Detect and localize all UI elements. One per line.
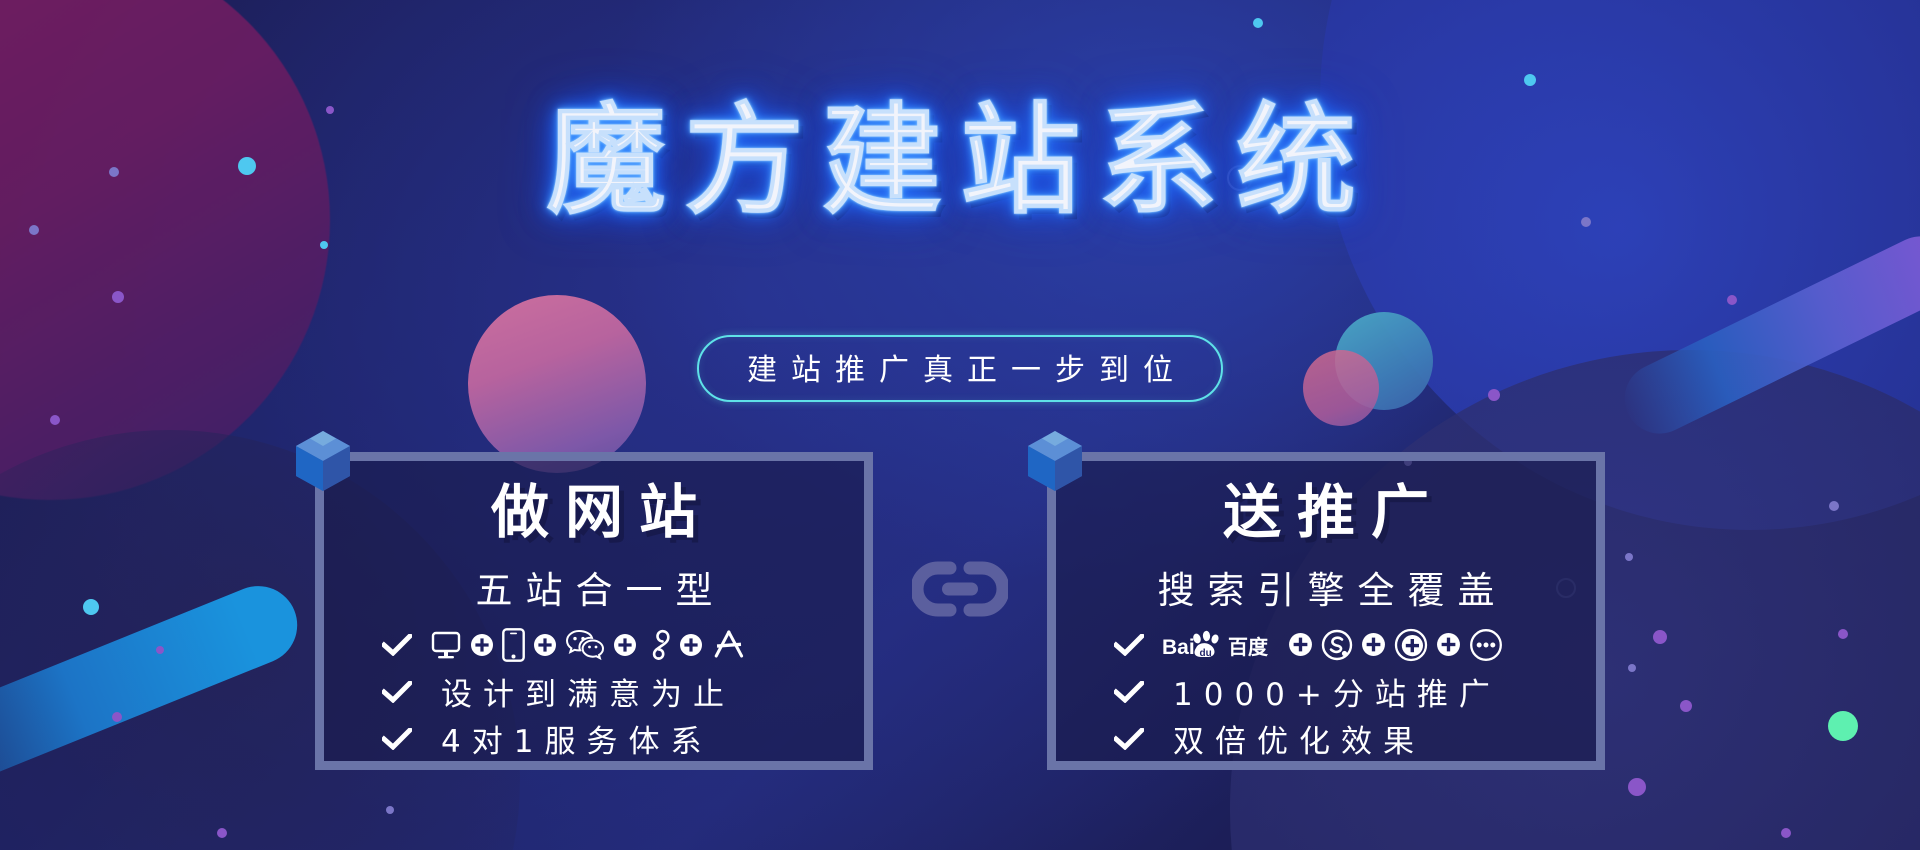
panel-title-free-promotion: 送推广	[1207, 479, 1445, 546]
feature-label: 4对1服务体系	[430, 716, 712, 761]
subtitle-container: 建站推广真正一步到位	[0, 335, 1920, 402]
dot-cyan-e	[1253, 18, 1263, 28]
monitor-icon	[430, 629, 462, 661]
banner-stage: 魔方建站系统 建站推广真正一步到位 做网站 五站合一型	[0, 0, 1920, 850]
feature-row-text: 4对1服务体系	[324, 718, 864, 760]
platform-icon-strip	[430, 628, 747, 662]
check-icon	[1114, 634, 1144, 656]
panel-make-website[interactable]: 做网站 五站合一型	[315, 452, 873, 770]
sogou-icon	[1321, 629, 1353, 661]
panel-subtitle-free-promotion: 搜索引擎全覆盖	[1145, 560, 1508, 614]
dot-violet-l	[1781, 828, 1791, 838]
dot-violet-d	[217, 828, 227, 838]
dot-violet-a	[112, 291, 124, 303]
feature-row-text: 设计到满意为止	[324, 671, 864, 713]
loop-icon	[645, 628, 671, 661]
check-icon	[1114, 728, 1144, 750]
360-search-icon	[1394, 628, 1428, 662]
dot-violet-j	[1727, 295, 1737, 305]
feature-label: 1000+分站推广	[1162, 669, 1501, 714]
dot-cyan-small	[320, 241, 328, 249]
feature-row-text: 双倍优化效果	[1056, 718, 1596, 760]
smartphone-icon	[502, 628, 525, 662]
plus-icon	[533, 633, 557, 657]
dot-lilac-h	[386, 806, 394, 814]
dot-cyan-d	[1524, 74, 1536, 86]
feature-label: 双倍优化效果	[1162, 716, 1425, 761]
wechat-icon	[565, 629, 605, 661]
cube-icon	[292, 429, 354, 497]
subtitle-pill: 建站推广真正一步到位	[697, 335, 1223, 402]
panel-slot-make-website: 做网站 五站合一型	[315, 452, 873, 770]
panel-slot-free-promotion: 送推广 搜索引擎全覆盖 Bai	[1047, 452, 1605, 770]
cube-icon	[1024, 429, 1086, 497]
panel-title-make-website: 做网站	[475, 479, 713, 546]
plus-icon	[1288, 632, 1313, 657]
feature-row-icons	[324, 624, 864, 666]
panel-subtitle-make-website: 五站合一型	[463, 560, 726, 614]
dot-violet-h	[1628, 778, 1646, 796]
check-icon	[382, 634, 412, 656]
svg-text:du: du	[1200, 648, 1212, 659]
feature-row-text: 1000+分站推广	[1056, 671, 1596, 713]
panel-free-promotion[interactable]: 送推广 搜索引擎全覆盖 Bai	[1047, 452, 1605, 770]
plus-icon	[470, 633, 494, 657]
search-engine-icon-strip: Bai du 百度	[1162, 628, 1503, 662]
check-icon	[382, 728, 412, 750]
plus-icon	[1361, 632, 1386, 657]
feature-panels: 做网站 五站合一型	[0, 452, 1920, 770]
svg-text:Bai: Bai	[1162, 636, 1195, 659]
plus-icon	[1436, 632, 1461, 657]
check-icon	[382, 681, 412, 703]
feature-label: 设计到满意为止	[430, 669, 735, 714]
panel-connector	[873, 452, 1047, 770]
page-title: 魔方建站系统	[0, 96, 1920, 228]
plus-icon	[679, 633, 703, 657]
decor-magenta-blob	[0, 0, 330, 500]
dot-violet-b	[50, 415, 60, 425]
feature-row-icons: Bai du 百度	[1056, 624, 1596, 666]
chain-link-icon	[912, 560, 1008, 618]
decor-blue-glow-top	[1320, 0, 1920, 530]
svg-text:百度: 百度	[1228, 635, 1269, 659]
plus-icon	[613, 633, 637, 657]
baidu-logo-icon: Bai du 百度	[1162, 629, 1280, 661]
appstore-icon	[711, 629, 747, 661]
ellipsis-icon	[1469, 628, 1503, 662]
check-icon	[1114, 681, 1144, 703]
